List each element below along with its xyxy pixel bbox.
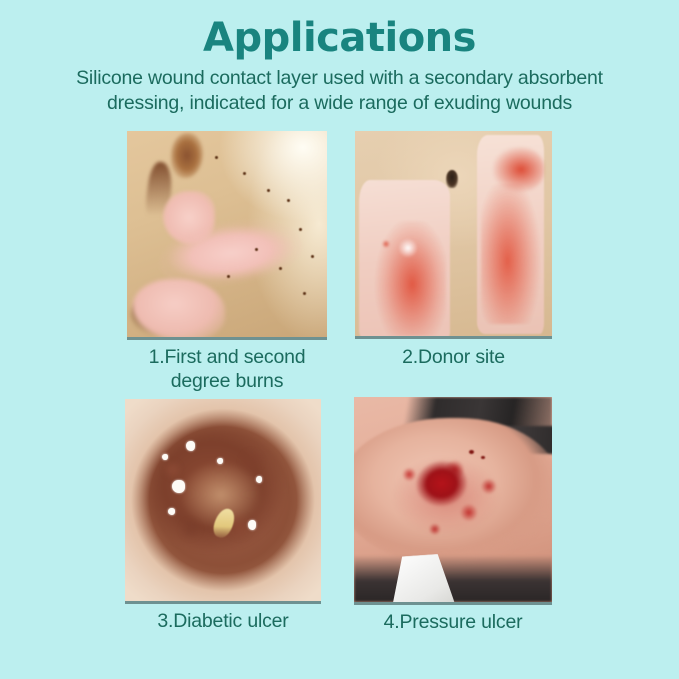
caption-line-1: 3.Diabetic ulcer: [125, 609, 321, 633]
granulation-patch-lower: [133, 279, 225, 337]
wound-photo-burns: [127, 131, 327, 337]
exudate-highlight: [217, 458, 223, 464]
applications-infographic: Applications Silicone wound contact laye…: [0, 0, 679, 679]
ulcer-rim: [125, 399, 321, 601]
skin-speck: [311, 255, 314, 258]
wound-photo-diabetic-ulcer: [125, 399, 321, 601]
panel-4-caption: 4.Pressure ulcer: [354, 610, 552, 634]
exudate-highlight: [172, 480, 185, 493]
application-panel-4: 4.Pressure ulcer: [354, 397, 552, 602]
subtitle-line-1: Silicone wound contact layer used with a…: [40, 66, 640, 91]
wound-photo-donor-site: [355, 131, 552, 336]
bleeding-area-right: [481, 184, 540, 323]
skin-speck: [303, 292, 306, 295]
navel-mark: [446, 170, 458, 188]
skin-speck: [299, 228, 302, 231]
skin-speck: [215, 156, 218, 159]
wound-photo-pressure-ulcer: [354, 397, 552, 602]
caption-line-1: 1.First and second: [127, 345, 327, 369]
skin-speck: [267, 189, 270, 192]
page-subtitle: Silicone wound contact layer used with a…: [40, 62, 640, 116]
foreground-dark-band: [354, 555, 552, 602]
caption-line-1: 2.Donor site: [355, 345, 552, 369]
page-title: Applications: [0, 0, 679, 62]
panel-3-caption: 3.Diabetic ulcer: [125, 609, 321, 633]
application-panel-1: 1.First and second degree burns: [127, 131, 327, 337]
application-panel-3: 3.Diabetic ulcer: [125, 399, 321, 601]
caption-line-2: degree burns: [127, 369, 327, 393]
application-panel-2: 2.Donor site: [355, 131, 552, 336]
caption-line-1: 4.Pressure ulcer: [354, 610, 552, 634]
subtitle-line-2: dressing, indicated for a wide range of …: [40, 91, 640, 116]
panel-1-caption: 1.First and second degree burns: [127, 345, 327, 393]
exudate-highlight: [256, 476, 262, 483]
bleeding-area-top: [493, 147, 544, 192]
exudate-highlight: [186, 441, 195, 451]
skin-speck: [287, 199, 290, 202]
panel-2-caption: 2.Donor site: [355, 345, 552, 369]
exudate-highlight: [162, 454, 168, 460]
skin-speck: [279, 267, 282, 270]
header: Applications Silicone wound contact laye…: [0, 0, 679, 116]
exudate-highlight: [168, 508, 175, 515]
dressing-gloss-highlight: [398, 238, 418, 259]
